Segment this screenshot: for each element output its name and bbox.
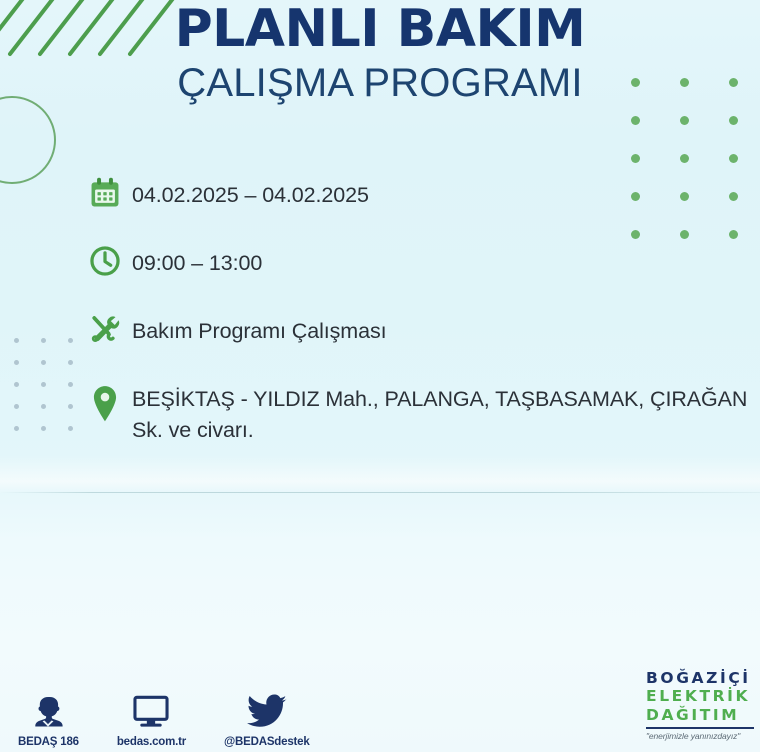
background-light-band xyxy=(0,455,760,493)
contact-phone-label: BEDAŞ 186 xyxy=(18,736,79,748)
page-title: PLANLI BAKIM xyxy=(0,2,760,56)
detail-row-location: BEŞİKTAŞ - YILDIZ Mah., PALANGA, TAŞBASA… xyxy=(88,377,760,445)
poster-footer: BEDAŞ 186 bedas.com.tr @BEDASdestek BOĞA… xyxy=(0,656,760,752)
location-pin-icon xyxy=(88,377,132,431)
brand-tagline: "enerjimizle yanınızdayız" xyxy=(646,732,754,741)
detail-row-worktype: Bakım Programı Çalışması xyxy=(88,309,760,349)
bedas-logo: BOĞAZİÇİ ELEKTRİK DAĞITIM "enerjimizle y… xyxy=(646,671,754,741)
poster-header: PLANLI BAKIM ÇALIŞMA PROGRAMI xyxy=(0,0,760,107)
brand-line-dagitim: DAĞITIM xyxy=(646,708,754,724)
brand-underline xyxy=(646,727,754,729)
detail-location-text: BEŞİKTAŞ - YILDIZ Mah., PALANGA, TAŞBASA… xyxy=(132,377,760,445)
maintenance-details-list: 04.02.2025 – 04.02.2025 09:00 – 13:00 Ba… xyxy=(0,173,760,445)
contact-website[interactable]: bedas.com.tr xyxy=(117,688,186,748)
twitter-bird-icon xyxy=(247,688,287,730)
brand-line-bogazici: BOĞAZİÇİ xyxy=(646,671,754,687)
horizontal-divider xyxy=(0,492,760,493)
contact-twitter[interactable]: @BEDASdestek xyxy=(224,688,310,748)
page-subtitle: ÇALIŞMA PROGRAMI xyxy=(0,60,760,107)
detail-date-text: 04.02.2025 – 04.02.2025 xyxy=(132,173,369,211)
calendar-icon xyxy=(88,173,132,213)
contact-website-label: bedas.com.tr xyxy=(117,736,186,748)
detail-time-text: 09:00 – 13:00 xyxy=(132,241,262,279)
detail-row-time: 09:00 – 13:00 xyxy=(88,241,760,281)
call-center-agent-icon xyxy=(29,688,67,730)
brand-line-elektrik: ELEKTRİK xyxy=(646,689,754,705)
tools-icon xyxy=(88,309,132,349)
contact-phone[interactable]: BEDAŞ 186 xyxy=(18,688,79,748)
contact-channels: BEDAŞ 186 bedas.com.tr @BEDASdestek xyxy=(18,688,310,748)
detail-worktype-text: Bakım Programı Çalışması xyxy=(132,309,386,347)
detail-row-date: 04.02.2025 – 04.02.2025 xyxy=(88,173,760,213)
monitor-icon xyxy=(132,688,170,730)
clock-icon xyxy=(88,241,132,281)
contact-twitter-label: @BEDASdestek xyxy=(224,736,310,748)
